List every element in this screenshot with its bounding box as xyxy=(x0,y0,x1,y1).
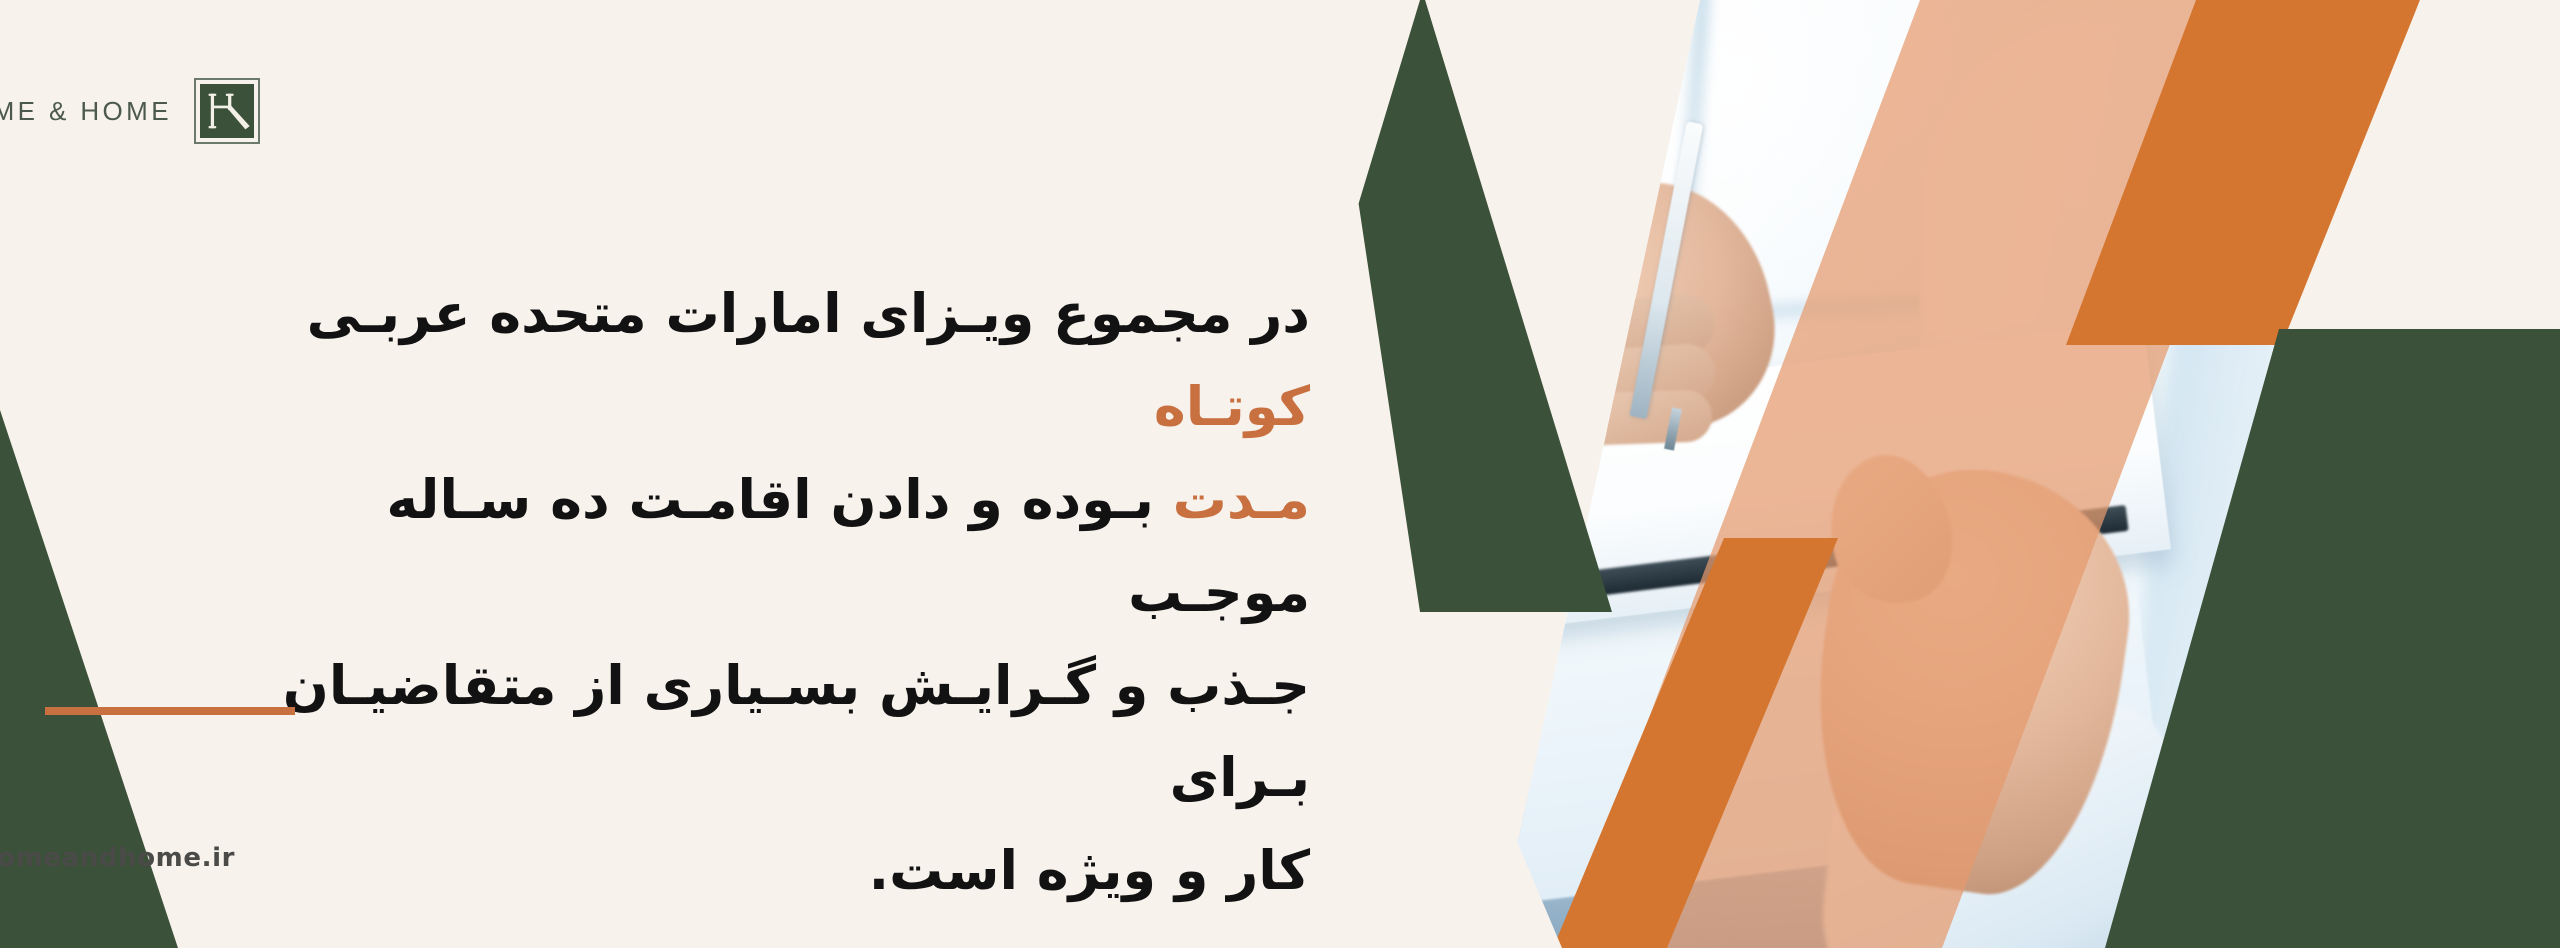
headline-accent-modat: مـدت xyxy=(1173,468,1310,531)
headline-line-4: کار و ویژه است. xyxy=(200,825,1310,918)
hero-photo xyxy=(1400,0,2560,948)
headline-line-2-text: بـوده و دادن اقامـت ده سـاله موجـب xyxy=(386,468,1310,624)
headline-line-1: در مجموع ویـزای امارات متحده عربـی کوتـا… xyxy=(200,268,1310,454)
accent-divider xyxy=(45,707,295,715)
wedding-ring xyxy=(1545,333,1574,378)
headline-line-3: جـذب و گـرایـش بسـیاری از متقاضیـان بـرا… xyxy=(200,640,1310,826)
brand-logo[interactable]: HOME & HOME xyxy=(0,78,260,144)
instagram-handle[interactable]: homeandhome.ir xyxy=(0,843,235,873)
instagram-link[interactable]: homeandhome.ir xyxy=(0,838,235,878)
green-wedge-left xyxy=(1328,0,1612,612)
headline-block: در مجموع ویـزای امارات متحده عربـی کوتـا… xyxy=(200,268,1310,918)
monogram-glyph xyxy=(200,84,254,138)
footer-bar: www.homeandhome.ir homeandhome.ir xyxy=(0,838,235,878)
banner-canvas: HOME & HOME در مجموع ویـزای امارات متحده… xyxy=(0,0,2560,948)
headline-line-1-text: در مجموع ویـزای امارات متحده عربـی xyxy=(307,282,1310,345)
headline-accent-kootah: کوتـاه xyxy=(1154,375,1310,438)
green-parallelogram-left xyxy=(1380,0,1611,612)
brand-wordmark: HOME & HOME xyxy=(0,96,172,127)
home-monogram-icon xyxy=(194,78,260,144)
headline-line-2: مـدت بـوده و دادن اقامـت ده سـاله موجـب xyxy=(200,454,1310,640)
